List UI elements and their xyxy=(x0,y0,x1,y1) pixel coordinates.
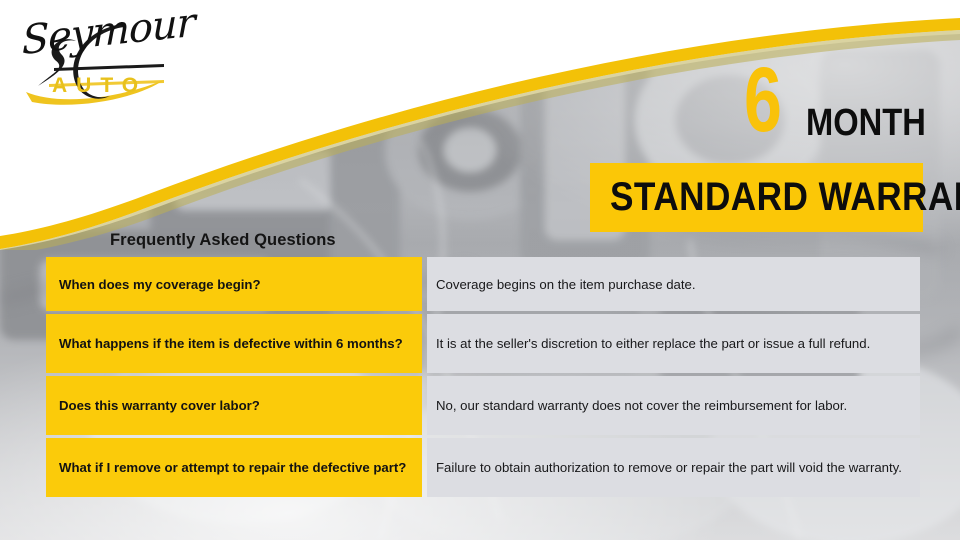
table-row: What if I remove or attempt to repair th… xyxy=(46,438,920,497)
logo-sub-wordmark: AUTO xyxy=(52,74,147,98)
faq-question-cell: When does my coverage begin? xyxy=(46,257,422,311)
warranty-slide: Seymour AUTO 6 MONTH STANDARD WARRANTY F… xyxy=(0,0,960,540)
faq-table: When does my coverage begin? Coverage be… xyxy=(46,257,920,497)
faq-answer-text: Coverage begins on the item purchase dat… xyxy=(436,275,912,294)
faq-answer-cell: No, our standard warranty does not cover… xyxy=(427,376,920,435)
faq-answer-cell: Failure to obtain authorization to remov… xyxy=(427,438,920,497)
faq-question-cell: What happens if the item is defective wi… xyxy=(46,314,422,373)
faq-answer-text: It is at the seller's discretion to eith… xyxy=(436,334,912,353)
faq-answer-cell: It is at the seller's discretion to eith… xyxy=(427,314,920,373)
warranty-duration-unit: MONTH xyxy=(806,104,926,142)
faq-answer-cell: Coverage begins on the item purchase dat… xyxy=(427,257,920,311)
faq-question-text: What if I remove or attempt to repair th… xyxy=(59,459,406,476)
table-row: When does my coverage begin? Coverage be… xyxy=(46,257,920,311)
warranty-duration-number: 6 xyxy=(744,54,780,146)
standard-warranty-banner: STANDARD WARRANTY xyxy=(590,163,923,232)
table-row: What happens if the item is defective wi… xyxy=(46,314,920,373)
table-row: Does this warranty cover labor? No, our … xyxy=(46,376,920,435)
seymour-auto-logo[interactable]: Seymour AUTO xyxy=(14,14,204,114)
faq-question-text: When does my coverage begin? xyxy=(59,276,261,293)
faq-question-cell: Does this warranty cover labor? xyxy=(46,376,422,435)
faq-question-text: What happens if the item is defective wi… xyxy=(59,335,403,352)
faq-question-text: Does this warranty cover labor? xyxy=(59,397,260,414)
faq-answer-text: Failure to obtain authorization to remov… xyxy=(436,458,912,477)
faq-answer-text: No, our standard warranty does not cover… xyxy=(436,396,912,415)
faq-question-cell: What if I remove or attempt to repair th… xyxy=(46,438,422,497)
faq-heading: Frequently Asked Questions xyxy=(110,231,336,250)
standard-warranty-label: STANDARD WARRANTY xyxy=(610,176,903,218)
